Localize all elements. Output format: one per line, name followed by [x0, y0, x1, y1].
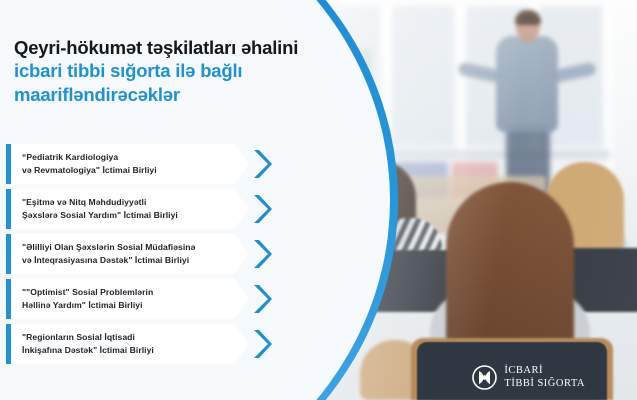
- circle-emblem-icon: [472, 365, 497, 390]
- presenter-torso: [496, 36, 558, 132]
- page-title: Qeyri-hökumət təşkilatları əhalini icbar…: [14, 36, 364, 106]
- brand-logo-line-2: TİBBİ SIĞORTA: [504, 378, 585, 390]
- list-item-accent-bar: [6, 144, 11, 184]
- list-item-label: “Pediatrik Kardiologiya və Revmatologiya…: [22, 144, 227, 184]
- list-item-label-line-2: və İnteqrasiyasına Dəstək" İctimai Birli…: [22, 254, 227, 267]
- list-item[interactable]: "Regionların Sosial İqtisadi İnkişafına …: [0, 324, 300, 364]
- list-item-label-line-1: "Eşitmə və Nitq Məhdudiyyətli: [22, 196, 227, 209]
- list-item-accent-bar: [6, 234, 11, 274]
- list-item-label: "Eşitmə və Nitq Məhdudiyyətli Şəxslərə S…: [22, 189, 227, 229]
- list-item-accent-bar: [6, 324, 11, 364]
- list-item[interactable]: ""Optimist" Sosial Problemlərin Həllinə …: [0, 279, 300, 319]
- chevron-right-icon[interactable]: [252, 240, 272, 268]
- list-item-label-line-1: “Pediatrik Kardiologiya: [22, 151, 227, 164]
- list-item-label-line-2: və Revmatologiya" İctimai Birliyi: [22, 164, 227, 177]
- headline-line-3: maarifləndirəcəklər: [14, 83, 364, 106]
- list-item[interactable]: “Pediatrik Kardiologiya və Revmatologiya…: [0, 144, 300, 184]
- list-item-label-line-1: "Regionların Sosial İqtisadi: [22, 331, 227, 344]
- presenter-hair: [515, 10, 541, 25]
- list-item-accent-bar: [6, 189, 11, 229]
- chevron-right-icon[interactable]: [252, 330, 272, 358]
- list-item-accent-bar: [6, 279, 11, 319]
- brand-logo-text: İCBARİ TİBBİ SIĞORTA: [504, 365, 585, 390]
- list-item-label-line-1: ""Optimist" Sosial Problemlərin: [22, 286, 227, 299]
- promo-banner: Qeyri-hökumət təşkilatları əhalini icbar…: [0, 0, 637, 400]
- brand-logo: İCBARİ TİBBİ SIĞORTA: [472, 365, 585, 390]
- chevron-right-icon[interactable]: [252, 285, 272, 313]
- list-item-label: ""Optimist" Sosial Problemlərin Həllinə …: [22, 279, 227, 319]
- headline-line-1: Qeyri-hökumət təşkilatları əhalini: [14, 36, 364, 59]
- brand-logo-line-1: İCBARİ: [504, 365, 585, 377]
- organization-list: “Pediatrik Kardiologiya və Revmatologiya…: [0, 144, 300, 369]
- list-item-label-line-1: "Əlilliyi Olan Şəxslərin Sosial Müdafiəs…: [22, 241, 227, 254]
- list-item-label: "Regionların Sosial İqtisadi İnkişafına …: [22, 324, 227, 364]
- headline-line-2: icbari tibbi sığorta ilə bağlı: [14, 59, 364, 82]
- list-item-label: "Əlilliyi Olan Şəxslərin Sosial Müdafiəs…: [22, 234, 227, 274]
- chevron-right-icon[interactable]: [252, 150, 272, 178]
- list-item-label-line-2: Şəxslərə Sosial Yardım" İctimai Birliyi: [22, 209, 227, 222]
- list-item[interactable]: "Əlilliyi Olan Şəxslərin Sosial Müdafiəs…: [0, 234, 300, 274]
- list-item-label-line-2: İnkişafına Dəstək" İctimai Birliyi: [22, 344, 227, 357]
- list-item-label-line-2: Həllinə Yardım" İctimai Birliyi: [22, 299, 227, 312]
- chevron-right-icon[interactable]: [252, 195, 272, 223]
- list-item[interactable]: "Eşitmə və Nitq Məhdudiyyətli Şəxslərə S…: [0, 189, 300, 229]
